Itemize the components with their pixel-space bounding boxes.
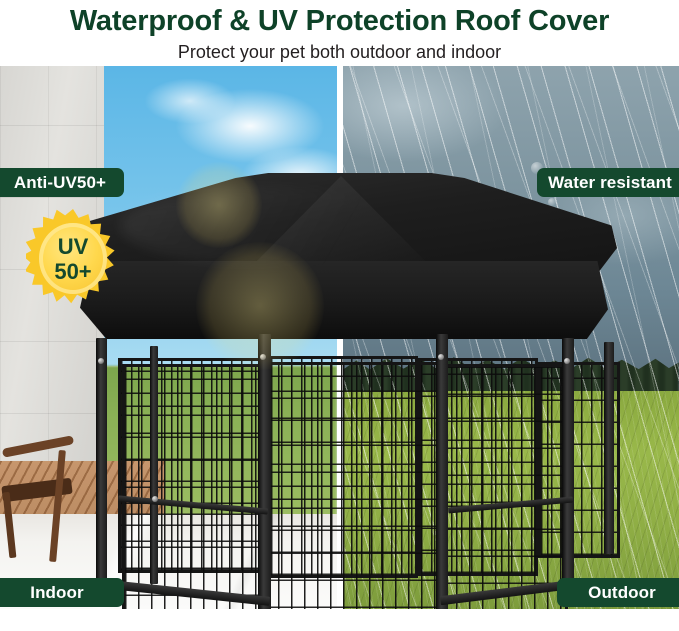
stormy-sky (343, 66, 679, 384)
wooden-chair (2, 438, 82, 558)
page-title: Waterproof & UV Protection Roof Cover (0, 4, 679, 38)
rain-droplet (548, 198, 556, 206)
badge-anti-uv: Anti-UV50+ (0, 168, 124, 197)
rain-droplet (511, 246, 521, 256)
lens-flare (196, 242, 324, 370)
uv-seal-line2: 50+ (54, 261, 91, 283)
scene-divider (337, 66, 343, 609)
header: Waterproof & UV Protection Roof Cover Pr… (0, 0, 679, 64)
product-comparison-image: UV 50+ Anti-UV50+ Water resistant Indoor… (0, 66, 679, 609)
page-subtitle: Protect your pet both outdoor and indoor (0, 40, 679, 64)
rain-droplet (565, 272, 572, 279)
badge-outdoor: Outdoor (557, 578, 679, 607)
grass-lawn (343, 391, 679, 609)
uv-protection-seal: UV 50+ (26, 209, 120, 308)
badge-indoor: Indoor (0, 578, 124, 607)
uv-seal-line1: UV (58, 236, 89, 258)
lens-flare (176, 162, 262, 248)
badge-water-resistant: Water resistant (537, 168, 679, 197)
outdoor-scene-half (343, 66, 679, 609)
uv-seal-text: UV 50+ (39, 228, 107, 290)
